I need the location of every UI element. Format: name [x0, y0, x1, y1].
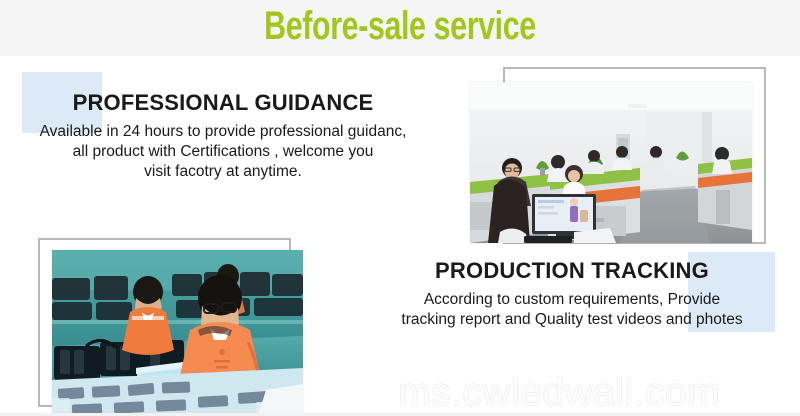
- body-line: all product with Certifications , welcom…: [8, 142, 438, 162]
- before-sale-service-slide: Before-sale service: [0, 0, 800, 416]
- section-heading-professional-guidance: PROFESSIONAL GUIDANCE: [8, 90, 438, 116]
- section-body-production-tracking: According to custom requirements, Provid…: [352, 290, 792, 330]
- section-professional-guidance: PROFESSIONAL GUIDANCE Available in 24 ho…: [8, 90, 438, 182]
- office-photo-artwork: [470, 82, 752, 243]
- site-watermark: ms.cwledwall.com: [398, 372, 720, 414]
- factory-photo: [52, 250, 303, 416]
- section-body-professional-guidance: Available in 24 hours to provide profess…: [8, 122, 438, 182]
- section-production-tracking: PRODUCTION TRACKING According to custom …: [352, 258, 792, 330]
- body-line: According to custom requirements, Provid…: [352, 290, 792, 310]
- page-title: Before-sale service: [96, 4, 704, 48]
- factory-photo-artwork: [52, 250, 303, 416]
- body-line: visit facotry at anytime.: [8, 162, 438, 182]
- body-line: Available in 24 hours to provide profess…: [8, 122, 438, 142]
- office-photo: [470, 82, 752, 243]
- section-heading-production-tracking: PRODUCTION TRACKING: [352, 258, 792, 284]
- body-line: tracking report and Quality test videos …: [352, 310, 792, 330]
